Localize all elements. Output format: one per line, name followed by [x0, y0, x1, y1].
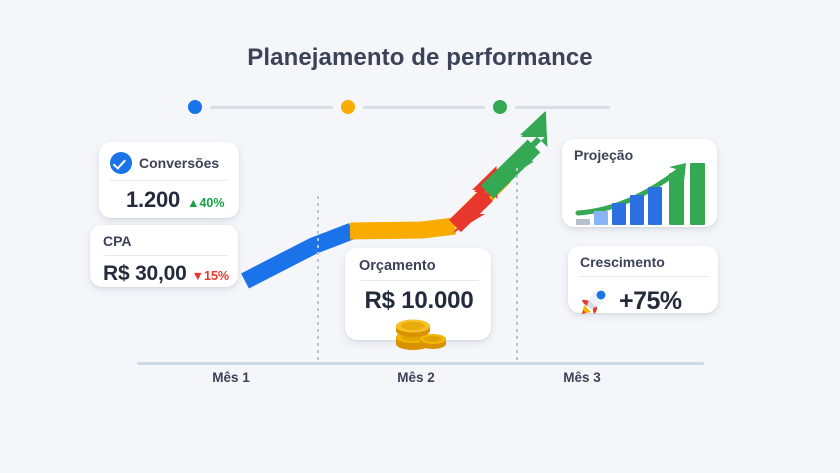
baseline-axis [137, 362, 704, 365]
arrow-segment-blue [245, 231, 352, 281]
axis-label-mes-3: Mês 3 [522, 370, 642, 385]
axis-label-mes-1: Mês 1 [171, 370, 291, 385]
projection-bar-7 [690, 163, 705, 225]
card-conversoes-value: 1.200 [126, 187, 180, 213]
card-conversoes[interactable]: Conversões 1.200 ▲40% [99, 142, 239, 218]
arrow-segment-yellow-1 [350, 226, 455, 231]
card-conversoes-header: Conversões [110, 152, 227, 174]
card-cpa-value-row: R$ 30,00 ▼15% [103, 262, 227, 286]
delta-up-arrow-icon: ▲ [187, 196, 199, 210]
card-cpa[interactable]: CPA R$ 30,00 ▼15% [90, 225, 238, 287]
divider-month-1 [317, 196, 319, 362]
card-conversoes-value-row: 1.200 ▲40% [110, 187, 227, 213]
card-cpa-title: CPA [103, 233, 227, 249]
check-circle-icon [110, 152, 132, 174]
card-conversoes-delta: ▲40% [187, 196, 224, 210]
projection-bar-4 [630, 195, 644, 225]
card-conversoes-delta-value: 40% [199, 196, 224, 210]
card-crescimento[interactable]: Crescimento +75% [568, 246, 718, 313]
card-orcamento[interactable]: Orçamento R$ 10.000 [345, 248, 491, 340]
card-crescimento-value: +75% [619, 287, 682, 316]
card-cpa-delta-value: 15% [204, 269, 229, 283]
card-orcamento-value: R$ 10.000 [359, 287, 479, 315]
projection-bar-1 [576, 219, 590, 225]
projection-bar-2 [594, 211, 608, 225]
card-crescimento-value-row: +75% [580, 283, 708, 319]
card-orcamento-divider [359, 280, 479, 281]
card-orcamento-title: Orçamento [359, 258, 479, 274]
card-cpa-divider [103, 255, 227, 256]
delta-down-arrow-icon: ▼ [192, 269, 204, 283]
card-cpa-delta: ▼15% [192, 269, 229, 283]
card-crescimento-divider [580, 276, 708, 277]
divider-month-2 [516, 168, 518, 362]
infographic-canvas: Planejamento de performance [0, 0, 840, 473]
bar-chart-growth-icon [570, 155, 712, 227]
axis-label-mes-2: Mês 2 [356, 370, 476, 385]
card-conversoes-title: Conversões [139, 155, 219, 171]
coins-icon [359, 317, 479, 356]
card-crescimento-title: Crescimento [580, 254, 708, 270]
card-conversoes-divider [110, 180, 227, 181]
projection-bar-3 [612, 203, 626, 225]
projection-bar-6 [669, 173, 684, 225]
projection-bar-5 [648, 187, 662, 225]
card-projecao[interactable]: Projeção [562, 139, 717, 227]
projection-trend-line [578, 171, 678, 213]
card-cpa-value: R$ 30,00 [103, 262, 187, 286]
rocket-icon [580, 283, 614, 319]
